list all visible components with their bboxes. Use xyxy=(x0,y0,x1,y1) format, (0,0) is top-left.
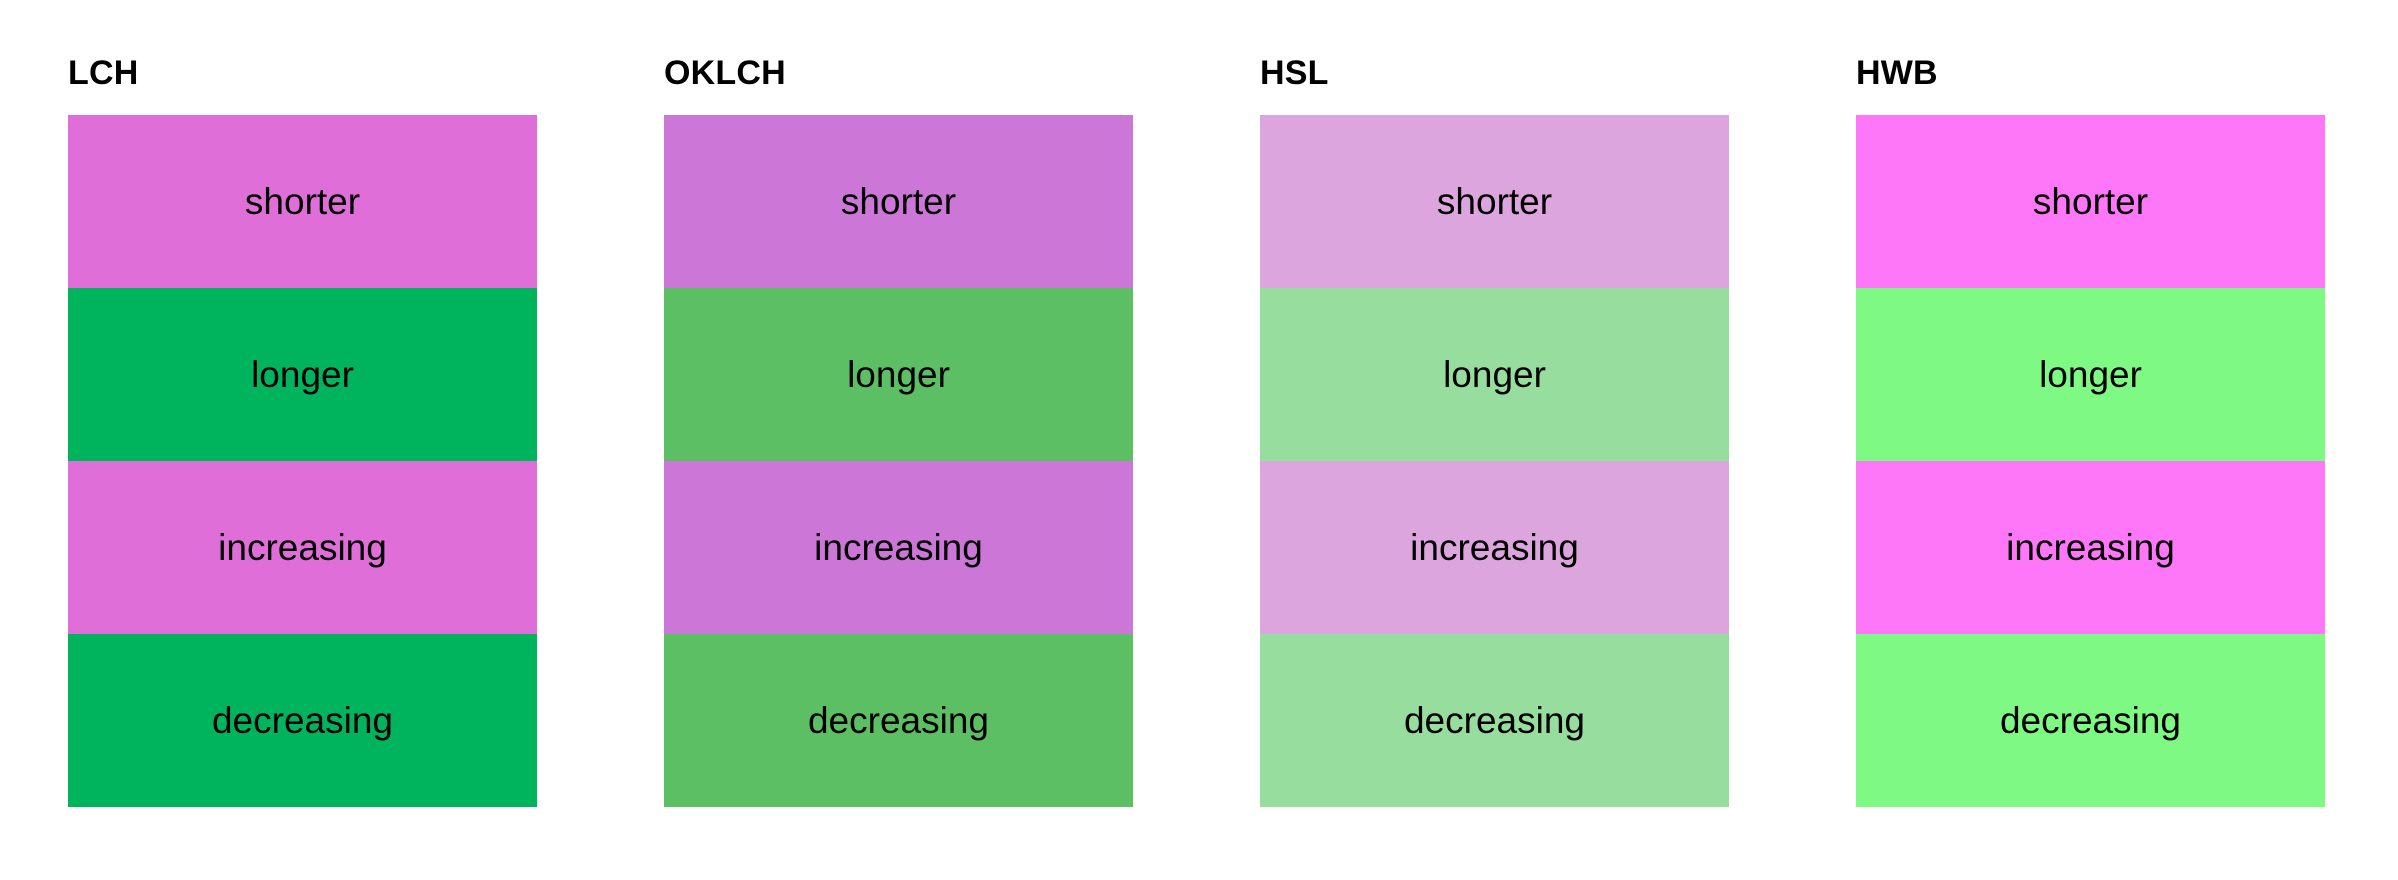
swatch-band-label: decreasing xyxy=(212,702,393,739)
swatch-band: decreasing xyxy=(1260,634,1729,807)
color-space-column: LCHshorterlongerincreasingdecreasing xyxy=(68,56,537,807)
swatch-band: longer xyxy=(1260,288,1729,461)
column-title: LCH xyxy=(68,56,537,90)
swatch-band-label: shorter xyxy=(2033,183,2148,220)
swatch-band: shorter xyxy=(1856,115,2325,288)
swatch-band: shorter xyxy=(1260,115,1729,288)
swatch-band: longer xyxy=(68,288,537,461)
swatch-band: decreasing xyxy=(1856,634,2325,807)
swatch-band-label: decreasing xyxy=(2000,702,2181,739)
swatch-band-label: increasing xyxy=(1410,529,1579,566)
column-title: HWB xyxy=(1856,56,2325,90)
swatch-band: increasing xyxy=(68,461,537,634)
swatch-band: shorter xyxy=(664,115,1133,288)
swatch-stack: shorterlongerincreasingdecreasing xyxy=(1856,115,2325,807)
column-title: HSL xyxy=(1260,56,1729,90)
swatch-band: increasing xyxy=(1856,461,2325,634)
color-space-column: HSLshorterlongerincreasingdecreasing xyxy=(1260,56,1729,807)
swatch-band-label: increasing xyxy=(218,529,387,566)
color-space-column: OKLCHshorterlongerincreasingdecreasing xyxy=(664,56,1133,807)
swatch-band: increasing xyxy=(664,461,1133,634)
swatch-band-label: longer xyxy=(1443,356,1546,393)
swatch-band-label: shorter xyxy=(1437,183,1552,220)
color-space-comparison-board: LCHshorterlongerincreasingdecreasingOKLC… xyxy=(0,0,2398,880)
swatch-band-label: increasing xyxy=(2006,529,2175,566)
swatch-stack: shorterlongerincreasingdecreasing xyxy=(1260,115,1729,807)
swatch-band: shorter xyxy=(68,115,537,288)
swatch-band-label: longer xyxy=(2039,356,2142,393)
swatch-band: longer xyxy=(664,288,1133,461)
swatch-band-label: longer xyxy=(251,356,354,393)
swatch-band-label: decreasing xyxy=(1404,702,1585,739)
column-title: OKLCH xyxy=(664,56,1133,90)
swatch-band-label: shorter xyxy=(245,183,360,220)
swatch-band-label: shorter xyxy=(841,183,956,220)
swatch-band-label: decreasing xyxy=(808,702,989,739)
swatch-band: longer xyxy=(1856,288,2325,461)
swatch-band: decreasing xyxy=(68,634,537,807)
color-space-column: HWBshorterlongerincreasingdecreasing xyxy=(1856,56,2325,807)
swatch-band: decreasing xyxy=(664,634,1133,807)
swatch-band-label: increasing xyxy=(814,529,983,566)
swatch-band-label: longer xyxy=(847,356,950,393)
swatch-stack: shorterlongerincreasingdecreasing xyxy=(68,115,537,807)
swatch-band: increasing xyxy=(1260,461,1729,634)
swatch-stack: shorterlongerincreasingdecreasing xyxy=(664,115,1133,807)
